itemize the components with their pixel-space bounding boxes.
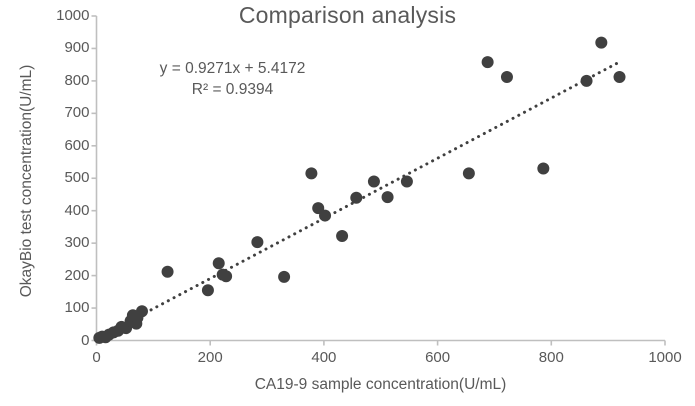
x-tick-label: 0 <box>67 349 127 366</box>
data-point <box>482 56 494 68</box>
y-tick-label: 200 <box>38 267 90 284</box>
y-tick-label: 900 <box>38 39 90 56</box>
plot-area <box>0 0 695 406</box>
data-point <box>382 191 394 203</box>
y-tick-label: 300 <box>38 234 90 251</box>
x-tick-label: 200 <box>180 349 240 366</box>
data-point <box>581 75 593 87</box>
y-tick-label: 800 <box>38 72 90 89</box>
data-point <box>319 210 331 222</box>
x-axis-title: CA19-9 sample concentration(U/mL) <box>96 376 665 394</box>
y-axis-title: OkayBio test concentration(U/mL) <box>18 16 36 346</box>
data-point <box>614 71 626 83</box>
data-point <box>305 167 317 179</box>
x-tick-label: 1000 <box>635 349 695 366</box>
data-point <box>278 271 290 283</box>
data-point <box>401 175 413 187</box>
x-tick-label: 400 <box>294 349 354 366</box>
x-tick-label: 600 <box>408 349 468 366</box>
y-tick-label: 700 <box>38 104 90 121</box>
data-point <box>368 175 380 187</box>
data-point <box>537 163 549 175</box>
data-point <box>463 167 475 179</box>
data-point <box>202 284 214 296</box>
data-point <box>595 37 607 49</box>
y-tick-label: 400 <box>38 202 90 219</box>
data-point <box>501 71 513 83</box>
axis-lines <box>96 16 665 341</box>
data-point <box>220 270 232 282</box>
y-tick-label: 1000 <box>38 7 90 24</box>
data-point <box>350 192 362 204</box>
data-point <box>251 236 263 248</box>
y-tick-label: 100 <box>38 299 90 316</box>
y-tick-label: 600 <box>38 137 90 154</box>
data-point <box>213 257 225 269</box>
data-point <box>336 230 348 242</box>
data-point <box>162 266 174 278</box>
y-tick-label: 500 <box>38 169 90 186</box>
scatter-chart: Comparison analysis y = 0.9271x + 5.4172… <box>0 0 695 406</box>
y-tick-label: 0 <box>38 332 90 349</box>
x-tick-label: 800 <box>521 349 581 366</box>
data-point <box>136 305 148 317</box>
